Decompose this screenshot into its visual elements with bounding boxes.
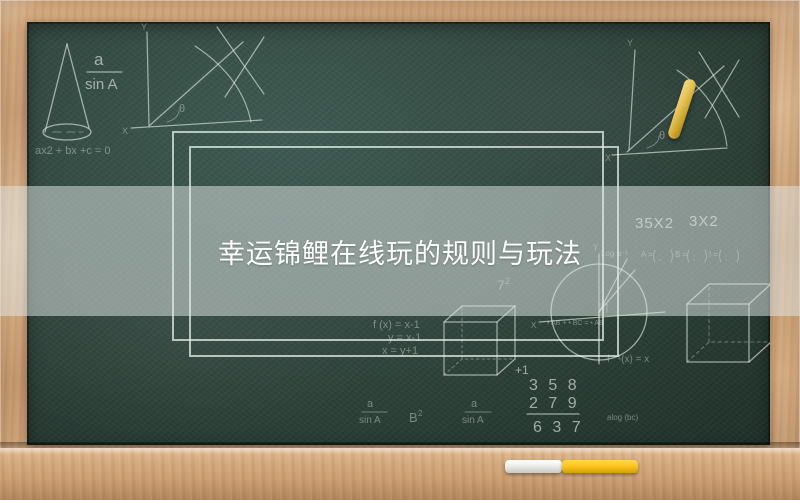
svg-text:a: a [94, 50, 104, 69]
svg-text:X: X [605, 153, 611, 163]
svg-text:a: a [471, 398, 478, 410]
ledge-grain-texture [0, 448, 800, 500]
svg-text:sin A: sin A [462, 415, 484, 426]
page-title: 幸运锦鲤在线玩的规则与玩法 [218, 232, 582, 271]
svg-text:alog (bc): alog (bc) [607, 413, 638, 422]
white-chalk-stick [505, 460, 562, 473]
angle-diagram-left: Y X θ [122, 22, 264, 136]
cone-diagram [43, 44, 91, 140]
svg-text:Y: Y [141, 22, 147, 32]
angle-diagram-right: Y X θ [605, 38, 739, 163]
svg-text:a: a [367, 398, 374, 410]
svg-text:f ⁻¹(x) = x: f ⁻¹(x) = x [607, 354, 649, 365]
svg-text:sin A: sin A [359, 415, 381, 426]
chalk-ledge [0, 448, 800, 500]
title-overlay-band: 幸运锦鲤在线玩的规则与玩法 [0, 186, 800, 316]
svg-text:3 5 8: 3 5 8 [529, 377, 580, 394]
arithmetic-addition: +1 3 5 8 2 7 9 6 3 7 [515, 363, 584, 436]
svg-text:Y: Y [627, 38, 633, 48]
svg-text:+1: +1 [515, 363, 529, 377]
svg-text:y = x-1: y = x-1 [388, 332, 421, 344]
svg-text:2: 2 [418, 409, 423, 418]
svg-text:θ: θ [179, 103, 185, 115]
banner-image: a sin A ax2 + bx +c = 0 Y X θ [0, 0, 800, 500]
svg-text:f (x) = x-1: f (x) = x-1 [373, 319, 420, 331]
svg-text:X: X [122, 126, 128, 136]
svg-text:sin A: sin A [85, 76, 118, 93]
svg-text:X: X [531, 321, 537, 330]
svg-text:B: B [409, 410, 418, 425]
svg-text:x = y+1: x = y+1 [382, 345, 418, 357]
cube-diagram-center [444, 306, 515, 375]
svg-text:θ: θ [659, 130, 665, 142]
svg-text:2 7 9: 2 7 9 [529, 395, 580, 412]
yellow-chalk-stick [562, 460, 638, 473]
ledge-highlight [0, 448, 800, 454]
svg-text:ax2 + bx +c = 0: ax2 + bx +c = 0 [35, 145, 111, 157]
svg-text:6 3 7: 6 3 7 [533, 419, 584, 436]
